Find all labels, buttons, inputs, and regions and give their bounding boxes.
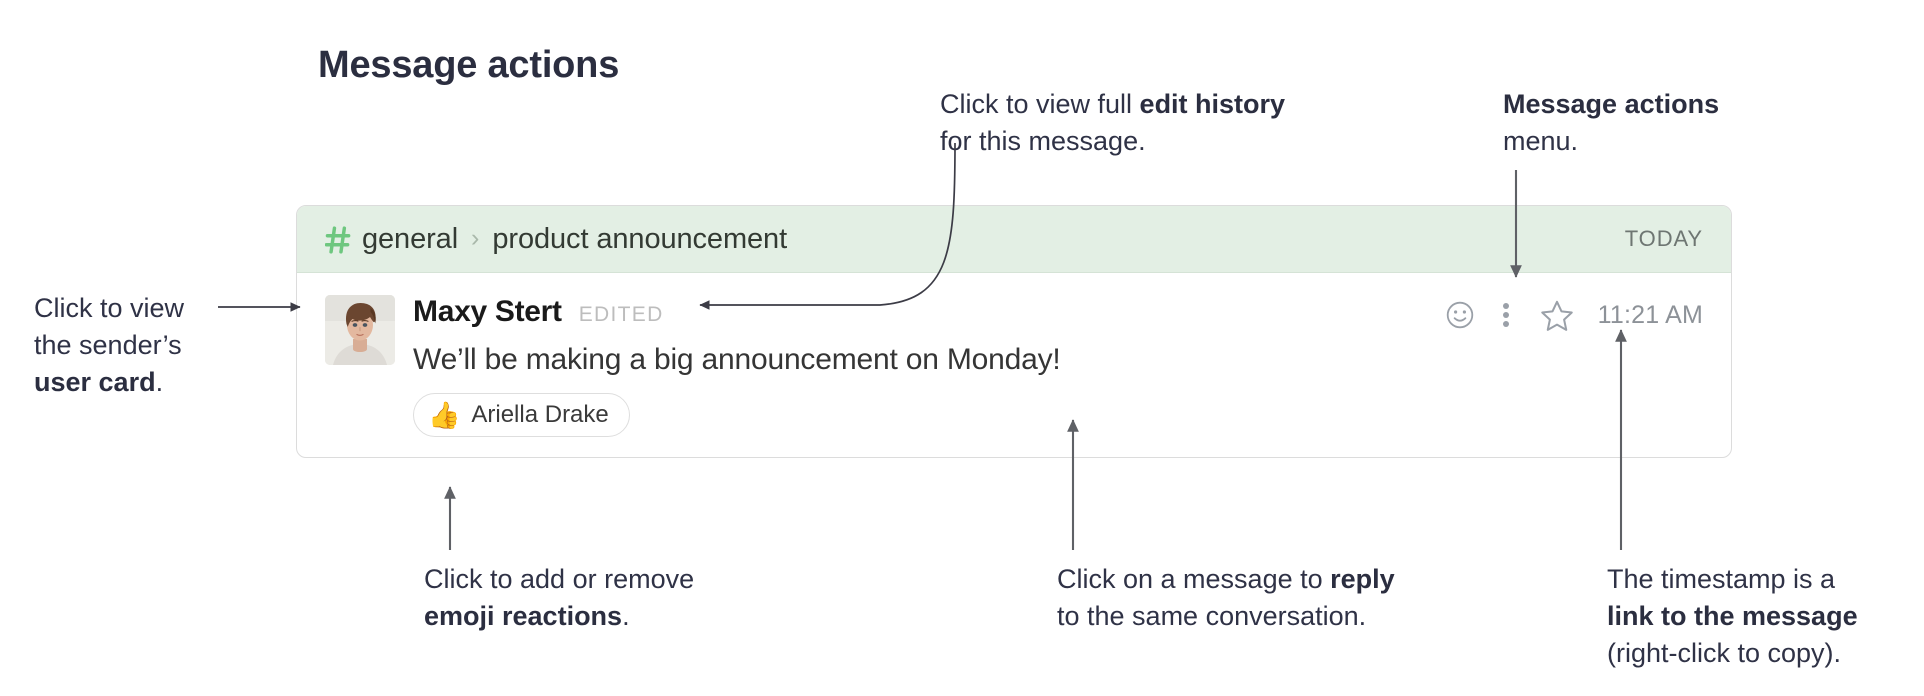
annotation-reply-text-2: to the same conversation.: [1057, 601, 1366, 631]
avatar-image: [325, 295, 395, 365]
reaction-pill[interactable]: 👍 Ariella Drake: [413, 393, 630, 437]
vertical-dots-icon: [1503, 300, 1509, 330]
add-reaction-icon[interactable]: [1442, 297, 1478, 333]
topic-name[interactable]: product announcement: [492, 223, 787, 256]
annotation-timestamp-text-1: The timestamp is a: [1607, 564, 1835, 594]
annotation-user-card: Click to view the sender’s user card.: [34, 290, 264, 401]
sender-name[interactable]: Maxy Stert: [413, 295, 562, 329]
annotation-emoji-bold: emoji reactions: [424, 601, 622, 631]
page-title: Message actions: [318, 44, 619, 87]
star-icon[interactable]: [1538, 297, 1576, 333]
annotation-emoji-text-1: Click to add or remove: [424, 564, 694, 594]
annotation-timestamp-link: The timestamp is a link to the message (…: [1607, 561, 1917, 672]
annotation-edit-history-bold: edit history: [1140, 89, 1286, 119]
annotation-reply-bold: reply: [1330, 564, 1395, 594]
annotation-edit-history-text-2: for this message.: [940, 126, 1146, 156]
star-outline-icon: [1540, 299, 1574, 332]
thumbs-up-icon: 👍: [428, 402, 460, 428]
menu-dot: [1503, 321, 1509, 327]
menu-dot: [1503, 312, 1509, 318]
breadcrumb-chevron-icon: ›: [471, 226, 479, 251]
annotation-user-card-bold: user card: [34, 367, 156, 397]
stream-name[interactable]: general: [362, 223, 458, 256]
menu-dot: [1503, 303, 1509, 309]
recipient-bar: general › product announcement TODAY: [297, 206, 1731, 273]
annotation-user-card-text-1: Click to view the sender’s: [34, 293, 184, 360]
annotation-reply: Click on a message to reply to the same …: [1057, 561, 1457, 635]
smiley-face-icon: [1445, 300, 1475, 330]
avatar[interactable]: [325, 295, 395, 365]
message-actions-menu-icon[interactable]: [1496, 297, 1516, 333]
annotation-reply-text-1: Click on a message to: [1057, 564, 1330, 594]
message-body-text[interactable]: We’ll be making a big announcement on Mo…: [413, 343, 1703, 377]
annotation-user-card-text-2: .: [156, 367, 164, 397]
reactions-row: 👍 Ariella Drake: [413, 393, 1703, 437]
annotation-actions-menu-text: menu.: [1503, 126, 1578, 156]
annotation-emoji-reactions: Click to add or remove emoji reactions.: [424, 561, 764, 635]
annotation-emoji-text-2: .: [622, 601, 630, 631]
recipient-bar-date[interactable]: TODAY: [1625, 226, 1703, 252]
annotation-timestamp-text-2: (right-click to copy).: [1607, 638, 1841, 668]
hash-icon: [325, 225, 352, 255]
page-root: Message actions Click to view full edit …: [0, 0, 1924, 696]
message-timestamp-link[interactable]: 11:21 AM: [1598, 301, 1703, 330]
annotation-actions-menu: Message actions menu.: [1503, 86, 1803, 160]
message-actions-group: 11:21 AM: [1442, 297, 1703, 333]
annotation-timestamp-bold: link to the message: [1607, 601, 1858, 631]
annotation-edit-history-text-1: Click to view full: [940, 89, 1140, 119]
reaction-user-label: Ariella Drake: [471, 401, 608, 429]
message-row[interactable]: Maxy Stert EDITED We’ll be making a big …: [297, 273, 1731, 437]
annotation-edit-history: Click to view full edit history for this…: [940, 86, 1360, 160]
message-card[interactable]: general › product announcement TODAY: [296, 205, 1732, 458]
edited-badge[interactable]: EDITED: [579, 303, 664, 327]
annotation-actions-menu-bold: Message actions: [1503, 89, 1719, 119]
